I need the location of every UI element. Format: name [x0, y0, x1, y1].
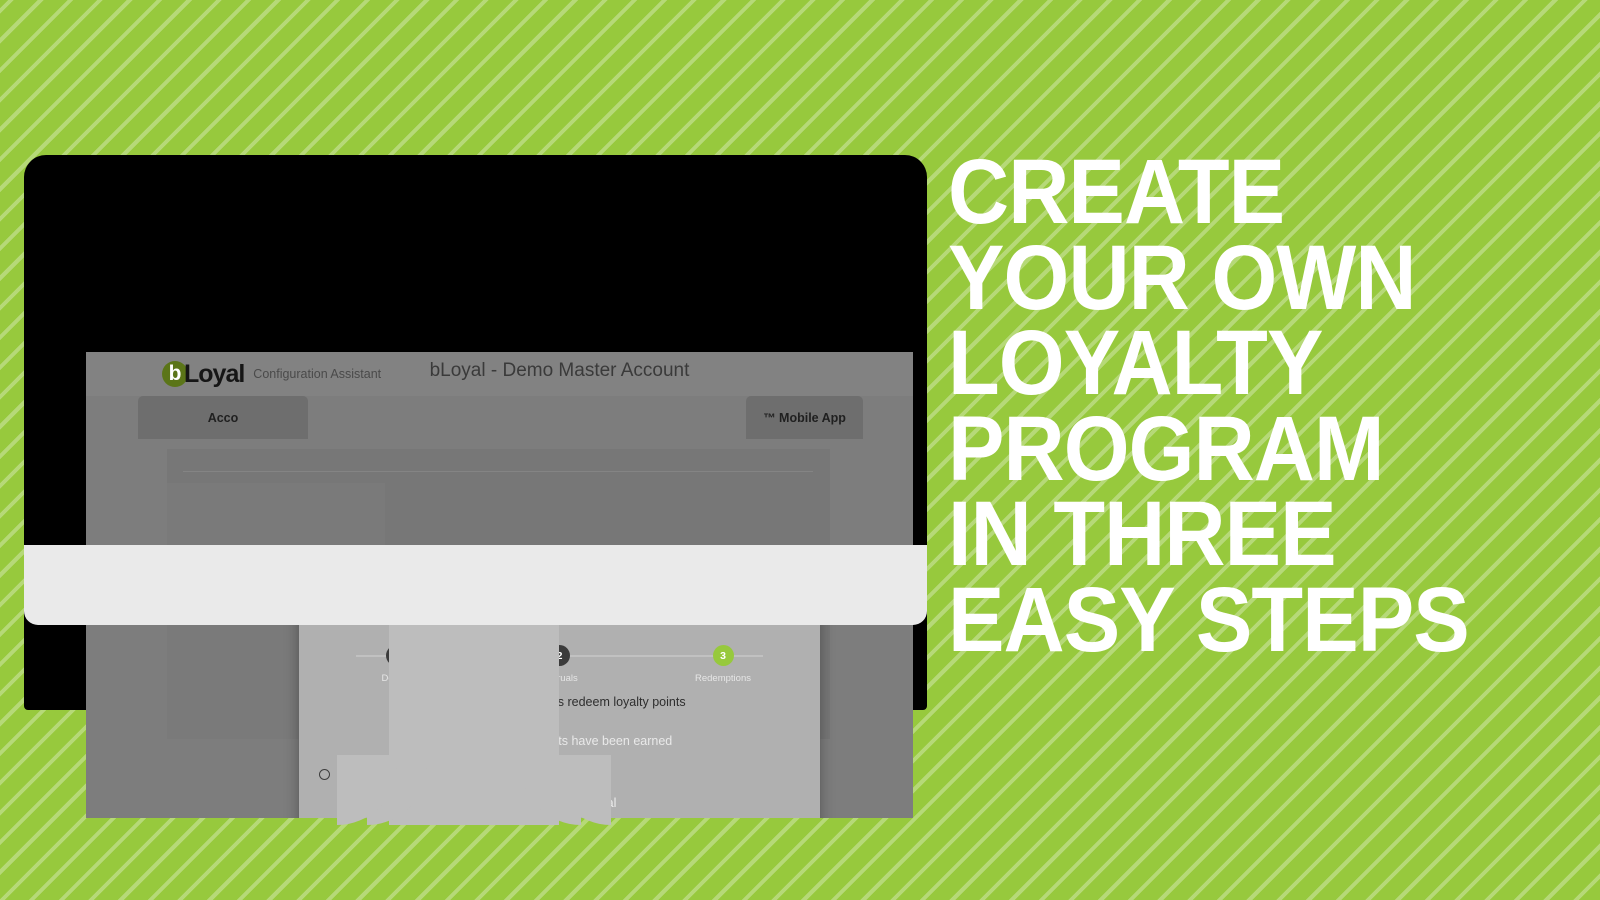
radio-automatic-award-icon[interactable]: [319, 769, 330, 780]
tab-mobile-app[interactable]: ™ Mobile App: [746, 396, 863, 439]
app-header: b Loyal Configuration Assistant bLoyal -…: [86, 352, 913, 396]
monitor-stand: [389, 625, 559, 825]
headline-line-3: LOYALTY: [948, 321, 1537, 407]
nav-bar: Acco ™ Mobile App: [86, 396, 913, 439]
tab-account[interactable]: Acco: [138, 396, 308, 439]
headline-line-4: PROGRAM: [948, 407, 1537, 493]
headline-line-1: CREATE: [948, 150, 1537, 236]
headline-line-2: YOUR OWN: [948, 236, 1537, 322]
step-3-label: Redemptions: [695, 673, 751, 684]
headline-line-6: EASY STEPS: [948, 578, 1537, 664]
monitor-chin: [24, 545, 927, 625]
content-divider: [183, 471, 813, 472]
step-3-number: 3: [713, 645, 734, 666]
marketing-headline: CREATE YOUR OWN LOYALTY PROGRAM IN THREE…: [948, 150, 1537, 663]
account-title: bLoyal - Demo Master Account: [86, 360, 913, 382]
step-redemptions[interactable]: 3 Redemptions: [683, 645, 763, 684]
headline-line-5: IN THREE: [948, 492, 1537, 578]
